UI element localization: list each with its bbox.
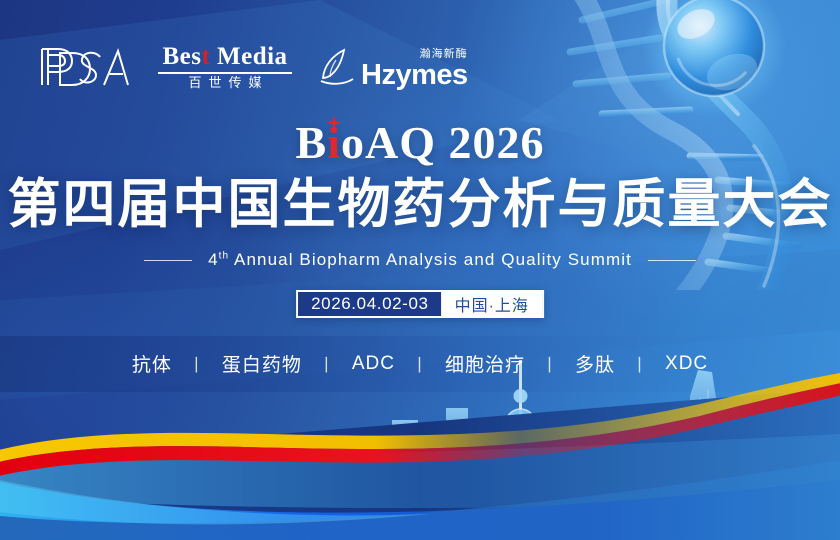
topic-item-2: ADC: [352, 353, 395, 375]
conference-banner: PDSA Best Media 百世传媒 瀚海新酶 Hzymes: [0, 0, 840, 540]
topic-item-3: 细胞治疗: [445, 350, 525, 377]
subtitle-rest: Annual Biopharm Analysis and Quality Sum…: [229, 250, 632, 269]
event-title-en: Bi oAQ 2026: [0, 120, 840, 166]
title-en-red-i: i: [327, 117, 341, 168]
title-en-post: oAQ 2026: [341, 117, 545, 168]
event-date: 2026.04.02-03: [298, 292, 441, 316]
best-media-rule: [158, 72, 292, 74]
logo-hzymes: 瀚海新酶 Hzymes: [320, 45, 468, 89]
topic-item-5: XDC: [665, 353, 708, 375]
title-en-pre: B: [296, 117, 328, 168]
best-media-en-post: Media: [210, 43, 287, 70]
event-place: 中国·上海: [442, 292, 542, 316]
subtitle-rule-right: [648, 260, 696, 261]
topic-separator-2: 丨: [411, 351, 429, 376]
best-media-en-pre: Bes: [162, 43, 201, 70]
sail-leaf-icon: [320, 48, 354, 86]
topic-item-1: 蛋白药物: [222, 350, 302, 377]
logo-best-media: Best Media 百世传媒: [158, 44, 292, 90]
topic-separator-3: 丨: [541, 351, 559, 376]
event-subtitle-row: 4th Annual Biopharm Analysis and Quality…: [0, 250, 840, 270]
topic-item-4: 多肽: [575, 350, 615, 377]
logo-pdsa: PDSA: [38, 45, 130, 89]
topic-separator-0: 丨: [188, 351, 206, 376]
subtitle-rule-left: [144, 260, 192, 261]
best-media-cn: 百世传媒: [181, 76, 268, 90]
best-media-en-red-t: t: [201, 43, 210, 70]
sponsor-logo-row: PDSA Best Media 百世传媒 瀚海新酶 Hzymes: [38, 38, 468, 96]
event-subtitle: 4th Annual Biopharm Analysis and Quality…: [208, 250, 632, 270]
best-media-en: Best Media: [162, 44, 287, 69]
event-title-cn: 第四届中国生物药分析与质量大会: [0, 176, 840, 233]
date-place-badge: 2026.04.02-03 中国·上海: [296, 290, 544, 318]
banner-content: PDSA Best Media 百世传媒 瀚海新酶 Hzymes: [0, 0, 840, 540]
hzymes-en: Hzymes: [361, 62, 468, 89]
subtitle-ordinal: 4: [208, 250, 219, 269]
topic-separator-1: 丨: [318, 351, 336, 376]
pdsa-monogram-icon: PDSA: [38, 45, 130, 89]
topics-list: 抗体 丨 蛋白药物 丨 ADC 丨 细胞治疗 丨 多肽 丨 XDC: [0, 350, 840, 377]
sparkle-icon: [327, 115, 342, 130]
topic-separator-4: 丨: [631, 351, 649, 376]
topic-item-0: 抗体: [132, 350, 172, 377]
subtitle-ordinal-suffix: th: [219, 250, 230, 261]
